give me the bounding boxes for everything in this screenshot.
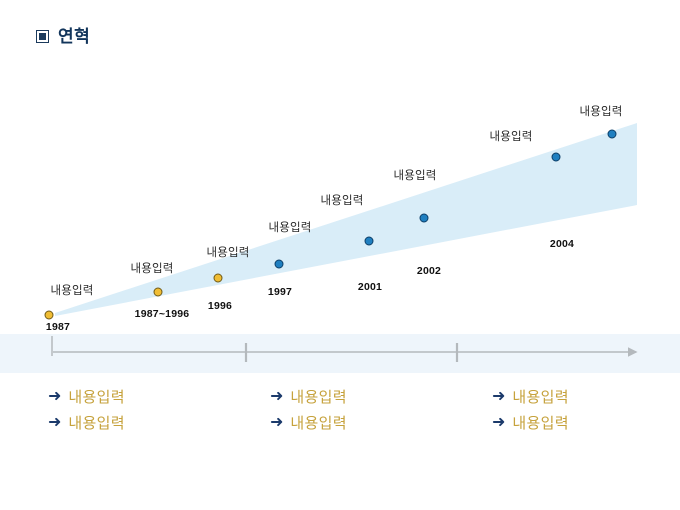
arrow-right-icon: ➜ bbox=[48, 415, 61, 431]
timeline-point-label: 내용입력 bbox=[50, 282, 93, 298]
timeline-point-label: 내용입력 bbox=[130, 260, 173, 276]
page-title: 연혁 bbox=[36, 28, 90, 45]
timeline-year-label: 1997 bbox=[268, 286, 292, 298]
bullet-item-label: 내용입력 bbox=[290, 416, 346, 431]
arrow-right-icon: ➜ bbox=[492, 415, 505, 431]
square-bullet-icon bbox=[36, 30, 49, 43]
timeline-year-label: 2004 bbox=[550, 238, 574, 250]
timeline-point-label: 내용입력 bbox=[206, 244, 249, 260]
timeline-year-label: 2001 bbox=[358, 281, 382, 293]
bullet-item-label: 내용입력 bbox=[512, 390, 568, 405]
timeline-marker[interactable] bbox=[608, 130, 617, 139]
bullet-list-item[interactable]: ➜내용입력 bbox=[270, 384, 492, 410]
bullet-list-item[interactable]: ➜내용입력 bbox=[48, 410, 270, 436]
timeline-marker[interactable] bbox=[365, 237, 374, 246]
bullet-item-label: 내용입력 bbox=[512, 416, 568, 431]
bullet-item-label: 내용입력 bbox=[68, 416, 124, 431]
timeline-year-label: 2002 bbox=[417, 265, 441, 277]
bullet-column: ➜내용입력➜내용입력 bbox=[492, 384, 680, 436]
timeline-marker[interactable] bbox=[275, 260, 284, 269]
arrow-right-icon: ➜ bbox=[492, 389, 505, 405]
timeline-point-label: 내용입력 bbox=[320, 192, 363, 208]
timeline-point-label: 내용입력 bbox=[489, 128, 532, 144]
timeline-marker[interactable] bbox=[214, 274, 223, 283]
bullet-list-item[interactable]: ➜내용입력 bbox=[270, 410, 492, 436]
arrow-right-icon: ➜ bbox=[270, 415, 283, 431]
timeline-point-label: 내용입력 bbox=[393, 167, 436, 183]
timeline-year-label: 1987 bbox=[46, 321, 70, 333]
timeline-point-label: 내용입력 bbox=[579, 103, 622, 119]
timeline-year-label: 1996 bbox=[208, 300, 232, 312]
arrow-right-icon: ➜ bbox=[48, 389, 61, 405]
bullet-list-item[interactable]: ➜내용입력 bbox=[492, 384, 680, 410]
bullet-column: ➜내용입력➜내용입력 bbox=[270, 384, 492, 436]
bullet-list-item[interactable]: ➜내용입력 bbox=[48, 384, 270, 410]
arrow-right-icon: ➜ bbox=[270, 389, 283, 405]
trend-band-shape bbox=[55, 123, 637, 316]
bullet-column: ➜내용입력➜내용입력 bbox=[48, 384, 270, 436]
timeline-marker[interactable] bbox=[45, 311, 54, 320]
timeline-marker[interactable] bbox=[154, 288, 163, 297]
timeline-marker[interactable] bbox=[420, 214, 429, 223]
timeline-marker[interactable] bbox=[552, 153, 561, 162]
timeline-year-label: 1987~1996 bbox=[135, 308, 190, 320]
timeline-point-label: 내용입력 bbox=[268, 219, 311, 235]
bullet-columns: ➜내용입력➜내용입력➜내용입력➜내용입력➜내용입력➜내용입력 bbox=[0, 384, 680, 436]
bullet-item-label: 내용입력 bbox=[68, 390, 124, 405]
bullet-list-item[interactable]: ➜내용입력 bbox=[492, 410, 680, 436]
bullet-item-label: 내용입력 bbox=[290, 390, 346, 405]
axis-background-band bbox=[0, 334, 680, 373]
page-title-label: 연혁 bbox=[58, 28, 90, 45]
